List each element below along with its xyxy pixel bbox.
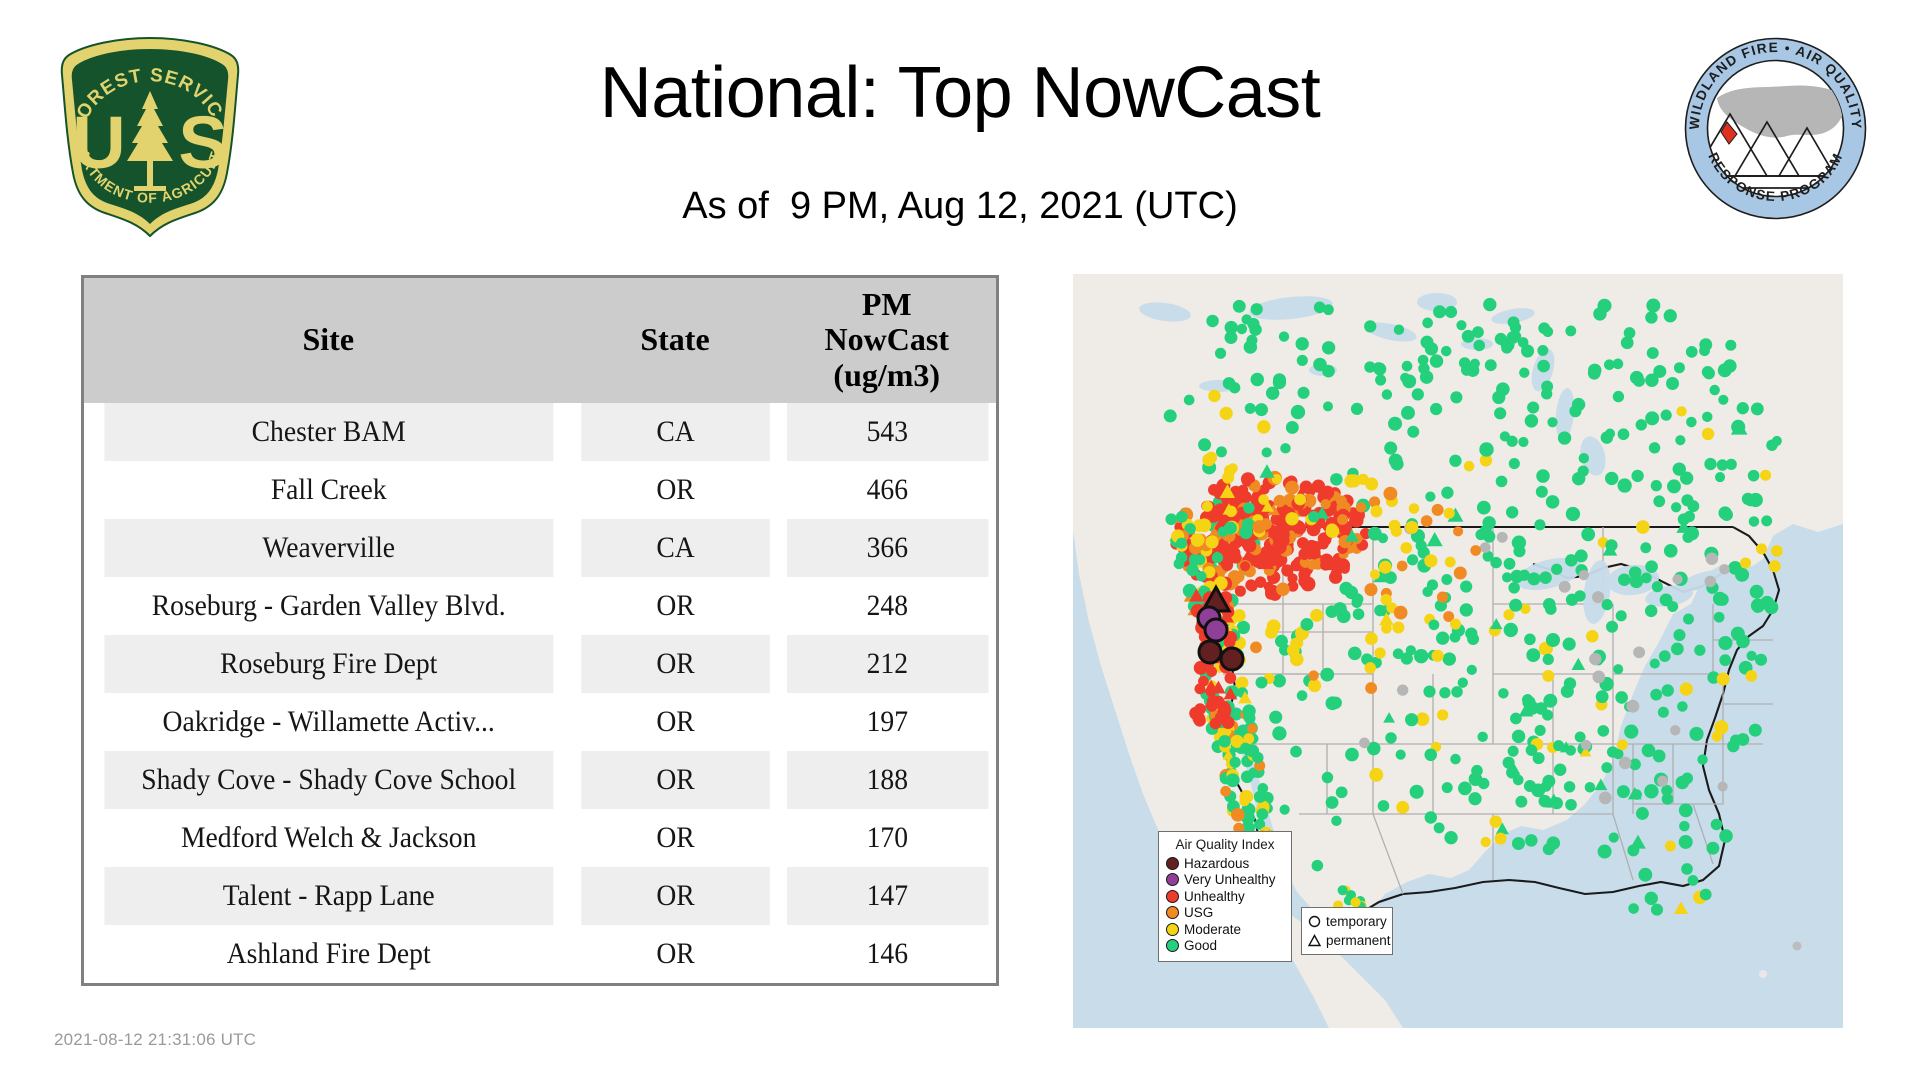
monitor-dot[interactable] xyxy=(1598,845,1612,859)
monitor-dot[interactable] xyxy=(1256,808,1268,820)
monitor-dot[interactable] xyxy=(1352,593,1364,605)
monitor-dot[interactable] xyxy=(1220,407,1233,420)
monitor-dot[interactable] xyxy=(1243,502,1254,513)
monitor-dot[interactable] xyxy=(1384,442,1397,455)
monitor-dot[interactable] xyxy=(1285,481,1299,495)
monitor-dot[interactable] xyxy=(1225,331,1238,344)
monitor-dot[interactable] xyxy=(1731,420,1745,434)
monitor-dot[interactable] xyxy=(1539,795,1552,808)
monitor-dot[interactable] xyxy=(1330,473,1342,485)
monitor-dot[interactable] xyxy=(1393,648,1404,659)
monitor-dot[interactable] xyxy=(1509,458,1520,469)
monitor-dot[interactable] xyxy=(1498,688,1508,698)
monitor-dot[interactable] xyxy=(1617,739,1628,750)
monitor-dot[interactable] xyxy=(1369,768,1383,782)
monitor-dot[interactable] xyxy=(1719,564,1729,574)
monitor-dot[interactable] xyxy=(1401,406,1415,420)
monitor-dot[interactable] xyxy=(1518,437,1528,447)
monitor-dot[interactable] xyxy=(1365,632,1378,645)
monitor-dot[interactable] xyxy=(1436,632,1449,645)
monitor-dot[interactable] xyxy=(1679,821,1690,832)
monitor-dot[interactable] xyxy=(1688,875,1699,886)
monitor-dot[interactable] xyxy=(1680,472,1693,485)
monitor-dot[interactable] xyxy=(1680,682,1693,695)
monitor-dot[interactable] xyxy=(1251,303,1263,315)
monitor-dot[interactable] xyxy=(1618,428,1630,440)
monitor-dot[interactable] xyxy=(1285,512,1298,525)
monitor-dot[interactable] xyxy=(1707,842,1720,855)
monitor-dot[interactable] xyxy=(1402,361,1413,372)
monitor-dot[interactable] xyxy=(1536,486,1548,498)
monitor-dot[interactable] xyxy=(1439,687,1450,698)
monitor-dot[interactable] xyxy=(1176,538,1187,549)
monitor-dot[interactable] xyxy=(1445,557,1456,568)
monitor-dot[interactable] xyxy=(1605,428,1615,438)
top-site-marker[interactable] xyxy=(1199,641,1221,663)
monitor-dot[interactable] xyxy=(1174,558,1185,569)
monitor-dot[interactable] xyxy=(1525,704,1536,715)
monitor-dot[interactable] xyxy=(1468,792,1481,805)
monitor-dot[interactable] xyxy=(1718,782,1728,792)
monitor-dot[interactable] xyxy=(1394,324,1404,334)
monitor-dot[interactable] xyxy=(1424,554,1437,567)
monitor-dot[interactable] xyxy=(1720,508,1733,521)
monitor-dot[interactable] xyxy=(1224,522,1237,535)
monitor-dot[interactable] xyxy=(1225,672,1237,684)
monitor-dot[interactable] xyxy=(1396,750,1406,760)
monitor-dot[interactable] xyxy=(1348,474,1361,487)
monitor-dot[interactable] xyxy=(1351,897,1361,907)
monitor-dot[interactable] xyxy=(1224,554,1235,565)
monitor-dot[interactable] xyxy=(1337,514,1348,525)
monitor-dot[interactable] xyxy=(1176,511,1188,523)
monitor-dot[interactable] xyxy=(1683,614,1694,625)
monitor-dot[interactable] xyxy=(1759,970,1767,978)
monitor-dot[interactable] xyxy=(1254,791,1266,803)
top-site-marker[interactable] xyxy=(1205,619,1227,641)
monitor-dot[interactable] xyxy=(1579,570,1589,580)
monitor-dot[interactable] xyxy=(1425,342,1438,355)
monitor-dot[interactable] xyxy=(1308,679,1321,692)
monitor-dot[interactable] xyxy=(1458,782,1472,796)
monitor-dot[interactable] xyxy=(1165,513,1177,525)
monitor-dot[interactable] xyxy=(1194,683,1205,694)
monitor-dot[interactable] xyxy=(1712,731,1723,742)
monitor-dot[interactable] xyxy=(1323,304,1334,315)
monitor-dot[interactable] xyxy=(1425,492,1435,502)
monitor-dot[interactable] xyxy=(1546,633,1560,647)
monitor-dot[interactable] xyxy=(1430,403,1442,415)
monitor-dot[interactable] xyxy=(1485,359,1497,371)
monitor-dot[interactable] xyxy=(1554,764,1566,776)
monitor-dot[interactable] xyxy=(1255,403,1268,416)
monitor-dot[interactable] xyxy=(1699,338,1712,351)
monitor-dot[interactable] xyxy=(1297,355,1308,366)
monitor-dot[interactable] xyxy=(1717,672,1730,685)
monitor-dot[interactable] xyxy=(1370,505,1382,517)
monitor-dot[interactable] xyxy=(1240,743,1250,753)
monitor-dot[interactable] xyxy=(1220,786,1231,797)
national-aqi-map[interactable]: Air Quality Index HazardousVery Unhealth… xyxy=(1073,274,1843,1028)
monitor-dot[interactable] xyxy=(1541,388,1552,399)
monitor-dot[interactable] xyxy=(1230,757,1241,768)
monitor-dot[interactable] xyxy=(1430,354,1443,367)
monitor-dot[interactable] xyxy=(1718,636,1732,650)
monitor-dot[interactable] xyxy=(1636,807,1649,820)
monitor-dot[interactable] xyxy=(1647,347,1659,359)
monitor-dot[interactable] xyxy=(1321,557,1334,570)
monitor-dot[interactable] xyxy=(1719,829,1733,843)
monitor-dot[interactable] xyxy=(1345,748,1359,762)
monitor-dot[interactable] xyxy=(1397,684,1408,695)
monitor-dot[interactable] xyxy=(1771,545,1783,557)
monitor-dot[interactable] xyxy=(1368,527,1382,541)
monitor-dot[interactable] xyxy=(1648,375,1658,385)
monitor-dot[interactable] xyxy=(1385,732,1396,743)
monitor-dot[interactable] xyxy=(1189,707,1202,720)
monitor-dot[interactable] xyxy=(1264,553,1275,564)
monitor-dot[interactable] xyxy=(1253,520,1266,533)
monitor-dot[interactable] xyxy=(1483,298,1496,311)
monitor-dot[interactable] xyxy=(1467,633,1479,645)
monitor-dot[interactable] xyxy=(1409,503,1420,514)
monitor-dot[interactable] xyxy=(1581,740,1591,750)
monitor-dot[interactable] xyxy=(1456,320,1466,330)
monitor-dot[interactable] xyxy=(1329,571,1342,584)
monitor-dot[interactable] xyxy=(1709,385,1719,395)
monitor-dot[interactable] xyxy=(1462,330,1475,343)
monitor-dot[interactable] xyxy=(1394,606,1408,620)
monitor-dot[interactable] xyxy=(1381,594,1392,605)
monitor-dot[interactable] xyxy=(1621,336,1634,349)
monitor-dot[interactable] xyxy=(1279,331,1289,341)
monitor-dot[interactable] xyxy=(1711,819,1722,830)
monitor-dot[interactable] xyxy=(1653,495,1665,507)
monitor-dot[interactable] xyxy=(1494,407,1506,419)
monitor-dot[interactable] xyxy=(1679,835,1693,849)
monitor-dot[interactable] xyxy=(1206,315,1218,327)
monitor-dot[interactable] xyxy=(1434,822,1445,833)
monitor-dot[interactable] xyxy=(1547,417,1557,427)
monitor-dot[interactable] xyxy=(1558,431,1571,444)
monitor-dot[interactable] xyxy=(1356,502,1366,512)
monitor-dot[interactable] xyxy=(1422,587,1432,597)
monitor-dot[interactable] xyxy=(1719,654,1731,666)
monitor-dot[interactable] xyxy=(1262,447,1272,457)
monitor-dot[interactable] xyxy=(1535,725,1546,736)
monitor-dot[interactable] xyxy=(1686,417,1697,428)
monitor-dot[interactable] xyxy=(1755,654,1767,666)
monitor-dot[interactable] xyxy=(1383,487,1397,501)
monitor-dot[interactable] xyxy=(1441,346,1452,357)
monitor-dot[interactable] xyxy=(1312,860,1324,872)
monitor-dot[interactable] xyxy=(1497,532,1508,543)
monitor-dot[interactable] xyxy=(1490,815,1502,827)
monitor-dot[interactable] xyxy=(1495,833,1507,845)
monitor-dot[interactable] xyxy=(1504,558,1516,570)
monitor-dot[interactable] xyxy=(1645,892,1658,905)
monitor-dot[interactable] xyxy=(1479,442,1493,456)
monitor-dot[interactable] xyxy=(1604,359,1615,370)
monitor-dot[interactable] xyxy=(1537,360,1550,373)
monitor-dot[interactable] xyxy=(1389,520,1401,532)
top-site-marker[interactable] xyxy=(1221,648,1243,670)
monitor-dot[interactable] xyxy=(1618,573,1631,586)
monitor-dot[interactable] xyxy=(1400,542,1412,554)
monitor-dot[interactable] xyxy=(1477,501,1491,515)
monitor-dot[interactable] xyxy=(1422,318,1433,329)
monitor-dot[interactable] xyxy=(1450,391,1462,403)
monitor-dot[interactable] xyxy=(1513,775,1524,786)
monitor-dot[interactable] xyxy=(1312,479,1325,492)
monitor-dot[interactable] xyxy=(1678,513,1690,525)
monitor-dot[interactable] xyxy=(1671,502,1681,512)
monitor-dot[interactable] xyxy=(1572,398,1585,411)
monitor-dot[interactable] xyxy=(1543,694,1557,708)
monitor-dot[interactable] xyxy=(1645,560,1658,573)
monitor-dot[interactable] xyxy=(1524,780,1536,792)
monitor-dot[interactable] xyxy=(1255,576,1267,588)
monitor-dot[interactable] xyxy=(1405,713,1418,726)
monitor-dot[interactable] xyxy=(1526,648,1540,662)
monitor-dot[interactable] xyxy=(1364,662,1375,673)
monitor-dot[interactable] xyxy=(1748,470,1760,482)
monitor-dot[interactable] xyxy=(1793,942,1802,951)
monitor-dot[interactable] xyxy=(1236,676,1249,689)
monitor-dot[interactable] xyxy=(1653,750,1666,763)
monitor-dot[interactable] xyxy=(1749,724,1762,737)
monitor-dot[interactable] xyxy=(1477,732,1487,742)
monitor-dot[interactable] xyxy=(1210,718,1222,730)
monitor-dot[interactable] xyxy=(1444,508,1455,519)
monitor-dot[interactable] xyxy=(1586,630,1598,642)
monitor-dot[interactable] xyxy=(1331,816,1341,826)
monitor-dot[interactable] xyxy=(1506,506,1518,518)
monitor-dot[interactable] xyxy=(1364,361,1375,372)
monitor-dot[interactable] xyxy=(1525,834,1538,847)
monitor-dot[interactable] xyxy=(1322,341,1335,354)
monitor-dot[interactable] xyxy=(1617,478,1631,492)
monitor-dot[interactable] xyxy=(1772,436,1782,446)
monitor-dot[interactable] xyxy=(1657,776,1668,787)
monitor-dot[interactable] xyxy=(1697,754,1707,764)
monitor-dot[interactable] xyxy=(1460,580,1472,592)
monitor-dot[interactable] xyxy=(1527,572,1540,585)
monitor-dot[interactable] xyxy=(1396,801,1409,814)
monitor-dot[interactable] xyxy=(1433,305,1446,318)
monitor-dot[interactable] xyxy=(1443,652,1456,665)
monitor-dot[interactable] xyxy=(1651,904,1663,916)
monitor-dot[interactable] xyxy=(1298,569,1310,581)
monitor-dot[interactable] xyxy=(1737,733,1750,746)
monitor-dot[interactable] xyxy=(1644,784,1658,798)
monitor-dot[interactable] xyxy=(1243,733,1254,744)
monitor-dot[interactable] xyxy=(1215,348,1226,359)
monitor-dot[interactable] xyxy=(1726,459,1737,470)
monitor-dot[interactable] xyxy=(1521,344,1534,357)
monitor-dot[interactable] xyxy=(1266,386,1279,399)
monitor-dot[interactable] xyxy=(1651,480,1662,491)
monitor-dot[interactable] xyxy=(1482,516,1495,529)
monitor-dot[interactable] xyxy=(1470,359,1480,369)
monitor-dot[interactable] xyxy=(1542,710,1553,721)
monitor-dot[interactable] xyxy=(1206,666,1217,677)
monitor-dot[interactable] xyxy=(1275,635,1288,648)
monitor-dot[interactable] xyxy=(1662,684,1674,696)
monitor-dot[interactable] xyxy=(1629,574,1643,588)
monitor-dot[interactable] xyxy=(1725,340,1736,351)
monitor-dot[interactable] xyxy=(1212,552,1223,563)
monitor-dot[interactable] xyxy=(1504,623,1518,637)
monitor-dot[interactable] xyxy=(1624,725,1638,739)
monitor-dot[interactable] xyxy=(1650,689,1662,701)
monitor-dot[interactable] xyxy=(1601,762,1612,773)
monitor-dot[interactable] xyxy=(1225,506,1236,517)
monitor-dot[interactable] xyxy=(1364,583,1377,596)
monitor-dot[interactable] xyxy=(1444,831,1457,844)
monitor-dot[interactable] xyxy=(1323,401,1333,411)
monitor-dot[interactable] xyxy=(1508,582,1520,594)
monitor-dot[interactable] xyxy=(1585,782,1596,793)
monitor-dot[interactable] xyxy=(1294,494,1306,506)
monitor-dot[interactable] xyxy=(1307,560,1317,570)
monitor-dot[interactable] xyxy=(1218,735,1230,747)
monitor-dot[interactable] xyxy=(1524,634,1536,646)
monitor-dot[interactable] xyxy=(1478,778,1489,789)
monitor-dot[interactable] xyxy=(1628,903,1639,914)
monitor-dot[interactable] xyxy=(1202,501,1213,512)
monitor-dot[interactable] xyxy=(1592,671,1605,684)
monitor-dot[interactable] xyxy=(1751,402,1764,415)
monitor-dot[interactable] xyxy=(1664,544,1678,558)
monitor-dot[interactable] xyxy=(1414,649,1428,663)
monitor-dot[interactable] xyxy=(1237,324,1247,334)
monitor-dot[interactable] xyxy=(1676,406,1686,416)
monitor-dot[interactable] xyxy=(1714,612,1725,623)
monitor-dot[interactable] xyxy=(1445,306,1457,318)
monitor-dot[interactable] xyxy=(1659,650,1671,662)
monitor-dot[interactable] xyxy=(1704,458,1716,470)
monitor-dot[interactable] xyxy=(1429,619,1440,630)
monitor-dot[interactable] xyxy=(1636,520,1650,534)
monitor-dot[interactable] xyxy=(1674,362,1685,373)
monitor-dot[interactable] xyxy=(1412,388,1424,400)
monitor-dot[interactable] xyxy=(1226,773,1240,787)
monitor-dot[interactable] xyxy=(1407,426,1419,438)
monitor-dot[interactable] xyxy=(1512,730,1525,743)
monitor-dot[interactable] xyxy=(1715,472,1725,482)
monitor-dot[interactable] xyxy=(1667,479,1681,493)
monitor-dot[interactable] xyxy=(1537,345,1548,356)
monitor-dot[interactable] xyxy=(1534,519,1545,530)
monitor-dot[interactable] xyxy=(1702,412,1712,422)
monitor-dot[interactable] xyxy=(1713,592,1727,606)
monitor-dot[interactable] xyxy=(1686,346,1698,358)
monitor-dot[interactable] xyxy=(1526,744,1538,756)
monitor-dot[interactable] xyxy=(1615,691,1628,704)
monitor-dot[interactable] xyxy=(1515,796,1527,808)
monitor-dot[interactable] xyxy=(1613,664,1623,674)
monitor-dot[interactable] xyxy=(1589,653,1601,665)
monitor-dot[interactable] xyxy=(1702,428,1714,440)
monitor-dot[interactable] xyxy=(1340,564,1350,574)
monitor-dot[interactable] xyxy=(1640,542,1651,553)
monitor-dot[interactable] xyxy=(1670,725,1680,735)
monitor-dot[interactable] xyxy=(1662,793,1674,805)
monitor-dot[interactable] xyxy=(1296,337,1309,350)
monitor-dot[interactable] xyxy=(1202,453,1215,466)
monitor-dot[interactable] xyxy=(1664,309,1677,322)
monitor-dot[interactable] xyxy=(1740,557,1751,568)
monitor-dot[interactable] xyxy=(1510,713,1522,725)
monitor-dot[interactable] xyxy=(1689,727,1703,741)
monitor-dot[interactable] xyxy=(1702,366,1714,378)
monitor-dot[interactable] xyxy=(1633,375,1645,387)
monitor-dot[interactable] xyxy=(1671,642,1684,655)
monitor-dot[interactable] xyxy=(1222,472,1234,484)
monitor-dot[interactable] xyxy=(1559,581,1571,593)
monitor-dot[interactable] xyxy=(1286,421,1299,434)
monitor-dot[interactable] xyxy=(1627,844,1639,856)
monitor-dot[interactable] xyxy=(1542,670,1554,682)
monitor-dot[interactable] xyxy=(1300,618,1313,631)
monitor-dot[interactable] xyxy=(1229,382,1240,393)
monitor-dot[interactable] xyxy=(1291,405,1305,419)
monitor-dot[interactable] xyxy=(1519,368,1529,378)
monitor-dot[interactable] xyxy=(1470,545,1481,556)
monitor-dot[interactable] xyxy=(1750,585,1764,599)
monitor-dot[interactable] xyxy=(1467,665,1477,675)
monitor-dot[interactable] xyxy=(1374,647,1385,658)
monitor-dot[interactable] xyxy=(1272,726,1286,740)
monitor-dot[interactable] xyxy=(1164,409,1177,422)
monitor-dot[interactable] xyxy=(1761,515,1772,526)
monitor-dot[interactable] xyxy=(1351,403,1363,415)
monitor-dot[interactable] xyxy=(1298,387,1310,399)
monitor-dot[interactable] xyxy=(1566,594,1578,606)
monitor-dot[interactable] xyxy=(1407,554,1418,565)
monitor-dot[interactable] xyxy=(1616,610,1627,621)
monitor-dot[interactable] xyxy=(1233,300,1246,313)
monitor-dot[interactable] xyxy=(1536,469,1549,482)
monitor-dot[interactable] xyxy=(1745,670,1757,682)
monitor-dot[interactable] xyxy=(1673,629,1685,641)
monitor-dot[interactable] xyxy=(1665,840,1676,851)
monitor-dot[interactable] xyxy=(1437,709,1448,720)
monitor-dot[interactable] xyxy=(1326,796,1339,809)
monitor-dot[interactable] xyxy=(1507,436,1518,447)
monitor-dot[interactable] xyxy=(1597,725,1609,737)
monitor-dot[interactable] xyxy=(1453,526,1463,536)
monitor-dot[interactable] xyxy=(1706,552,1718,564)
monitor-dot[interactable] xyxy=(1496,476,1508,488)
monitor-dot[interactable] xyxy=(1310,609,1323,622)
monitor-dot[interactable] xyxy=(1297,690,1308,701)
monitor-dot[interactable] xyxy=(1507,331,1520,344)
monitor-dot[interactable] xyxy=(1626,700,1639,713)
monitor-dot[interactable] xyxy=(1251,373,1264,386)
monitor-dot[interactable] xyxy=(1649,442,1660,453)
monitor-dot[interactable] xyxy=(1566,507,1580,521)
monitor-dot[interactable] xyxy=(1250,482,1261,493)
monitor-dot[interactable] xyxy=(1736,635,1750,649)
monitor-dot[interactable] xyxy=(1290,746,1302,758)
monitor-dot[interactable] xyxy=(1756,543,1767,554)
monitor-dot[interactable] xyxy=(1353,608,1365,620)
monitor-dot[interactable] xyxy=(1240,561,1250,571)
monitor-dot[interactable] xyxy=(1233,571,1244,582)
monitor-dot[interactable] xyxy=(1242,704,1255,717)
